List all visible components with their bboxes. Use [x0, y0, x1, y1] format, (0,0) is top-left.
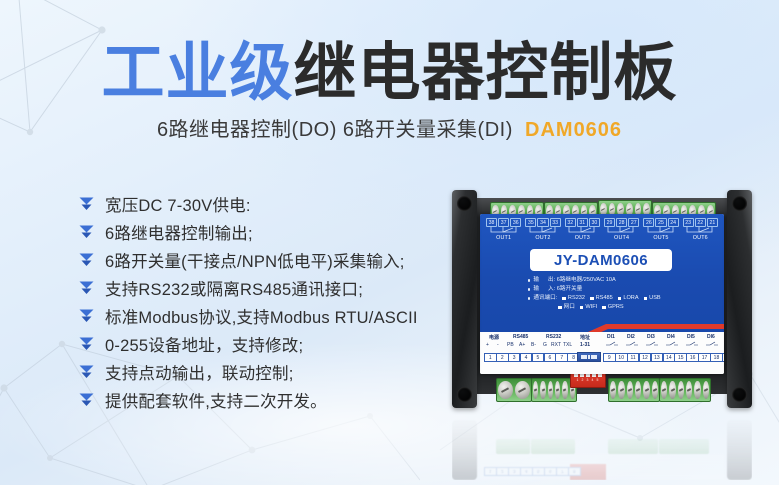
dip-switch-digits: 1 2 3 4 5 — [573, 378, 603, 382]
relay-output-group: 26 25 24 OUT5 — [643, 218, 679, 244]
list-item-label: 支持点动输出，联动控制; — [105, 360, 293, 384]
relay-output-label: OUT4 — [603, 235, 639, 241]
relay-contact-symbol-icon — [525, 227, 561, 235]
di-label: DI1 — [607, 334, 615, 340]
terminal-number: 24 — [668, 218, 679, 227]
di-contact-symbols-icon — [604, 341, 722, 348]
subtitle-model-number: DAM0606 — [525, 119, 622, 141]
terminal-screw — [627, 381, 633, 399]
terminal-screw — [498, 381, 513, 399]
reflection-bracket-right — [727, 420, 752, 480]
port-option: RS232 — [568, 294, 585, 303]
power-pin-plus: + — [486, 342, 489, 348]
rs232-pin-rxt: RXT — [551, 342, 561, 348]
terminal-number: 29 — [604, 218, 615, 227]
terminal-block-bottom-1 — [496, 378, 532, 402]
relay-output-label: OUT6 — [682, 235, 718, 241]
mounting-bracket-right — [727, 190, 752, 408]
reflection-terminal-number: 2 — [496, 467, 509, 476]
reflection-terminal-number: 3 — [508, 467, 521, 476]
double-chevron-down-icon — [78, 279, 95, 297]
reflection-faceplate — [480, 454, 724, 480]
terminal-screw — [618, 381, 624, 399]
port-option: 网口 — [564, 303, 575, 312]
relay-contact-symbol-icon — [682, 227, 718, 235]
double-chevron-down-icon — [78, 223, 95, 241]
terminal-screw — [686, 381, 692, 399]
terminal-screw — [661, 381, 667, 399]
dip-pin — [588, 355, 591, 358]
terminal-number: 27 — [628, 218, 639, 227]
spec-input-key: 输 — [533, 285, 539, 294]
terminal-number-row: 23 22 21 — [682, 218, 718, 227]
power-pin-minus: - — [497, 342, 499, 348]
double-chevron-down-icon — [78, 335, 95, 353]
terminal-number: 28 — [616, 218, 627, 227]
power-label: 电源 — [489, 334, 499, 341]
terminal-number: 17 — [698, 353, 711, 362]
reflection-terminal — [496, 439, 530, 454]
terminal-number-row: 26 25 24 — [643, 218, 679, 227]
checkbox-icon — [602, 306, 606, 310]
terminal-screw — [669, 381, 675, 399]
list-item-label: 6路开关量(干接点/NPN低电平)采集输入; — [105, 248, 405, 272]
terminal-number: 33 — [550, 218, 561, 227]
checkbox-icon — [618, 297, 622, 301]
faceplate-white-panel: 电源 + - RS485 PB A+ B- RS232 G RXT TXL 地址… — [480, 332, 724, 374]
terminal-number: 37 — [498, 218, 509, 227]
dip-pin — [584, 355, 587, 358]
spec-output-value: 6路继电器/250VAC 10A — [557, 276, 616, 285]
spec-output-key: 输 — [533, 276, 539, 285]
terminal-number: 21 — [707, 218, 718, 227]
terminal-block-bottom-4 — [659, 378, 711, 402]
relay-output-group: 38 37 36 OUT1 — [486, 218, 522, 244]
reflection-terminal — [659, 439, 709, 454]
terminal-screw — [548, 381, 553, 399]
subtitle-description: 6路继电器控制(DO) 6路开关量采集(DI) — [157, 119, 513, 141]
terminal-number: 2 — [496, 353, 509, 362]
di-label: DI5 — [687, 334, 695, 340]
address-range: 1-31 — [580, 342, 590, 348]
device-spec-list: 输 出: 6路继电器/250VAC 10A 输 入: 6路开关量 — [528, 276, 724, 312]
terminal-number: 15 — [674, 353, 687, 362]
terminal-screw — [652, 381, 658, 399]
address-dip-block-icon — [577, 352, 601, 362]
list-item-label: 0-255设备地址，支持修改; — [105, 332, 303, 356]
address-label: 地址 — [580, 334, 590, 341]
bottom-terminal-legend: 电源 + - RS485 PB A+ B- RS232 G RXT TXL 地址… — [480, 332, 724, 374]
spec-input-key2: 入: — [548, 285, 555, 294]
terminal-number: 16 — [686, 353, 699, 362]
relay-contact-symbol-icon — [603, 227, 639, 235]
terminal-screw — [515, 381, 530, 399]
spec-output-key2: 出: — [548, 276, 555, 285]
list-item-label: 支持RS232或隔离RS485通讯接口; — [105, 276, 363, 300]
terminal-screw — [643, 381, 649, 399]
terminal-number: 34 — [537, 218, 548, 227]
terminal-screw — [533, 381, 538, 399]
terminal-screw — [635, 381, 641, 399]
port-option: WIFI — [585, 303, 597, 312]
checkbox-icon — [644, 297, 648, 301]
dip-pin — [591, 355, 594, 358]
rs485-pin-b: B- — [531, 342, 536, 348]
dip-pin — [581, 355, 584, 358]
relay-output-label: OUT3 — [564, 235, 600, 241]
checkbox-icon — [562, 297, 566, 301]
terminal-number: 11 — [627, 353, 640, 362]
spec-ports-row2: 网口 WIFI GPRS — [528, 303, 724, 312]
di-label: DI6 — [707, 334, 715, 340]
terminal-number: 22 — [695, 218, 706, 227]
relay-output-group: 29 28 27 OUT4 — [603, 218, 639, 244]
relay-contact-symbol-icon — [486, 227, 522, 235]
terminal-number-row: 29 28 27 — [603, 218, 639, 227]
page-title-highlight: 工业级 — [102, 38, 294, 108]
terminal-number-row: 35 34 33 — [525, 218, 561, 227]
reflection-terminal — [531, 439, 575, 454]
page-title: 工业级继电器控制板 — [0, 42, 779, 105]
terminal-number: 3 — [508, 353, 521, 362]
terminal-number: 9 — [603, 353, 616, 362]
terminal-number: 13 — [651, 353, 664, 362]
port-option: RS485 — [596, 294, 613, 303]
terminal-number: 36 — [510, 218, 521, 227]
rs232-pin-g: G — [543, 342, 547, 348]
reflection-dip-switch — [570, 464, 606, 480]
rs485-pin-a: A+ — [519, 342, 525, 348]
spec-ports: 通讯端口: RS232 RS485 LORA USB — [528, 294, 724, 303]
model-badge: JY-DAM0606 — [530, 249, 672, 271]
terminal-screw — [610, 381, 616, 399]
reflection-terminal-numbers: 1 2 3 4 5 6 7 8 — [484, 467, 580, 476]
terminal-number: 38 — [486, 218, 497, 227]
reflection-terminal-number: 1 — [484, 467, 497, 476]
bullet-dot-icon — [528, 288, 530, 290]
double-chevron-down-icon — [78, 363, 95, 381]
page-subtitle: 6路继电器控制(DO) 6路开关量采集(DI) DAM0606 — [0, 120, 779, 140]
terminal-number-row: 32 31 30 — [564, 218, 600, 227]
spec-input-value: 6路开关量 — [557, 285, 583, 294]
relay-output-label: OUT1 — [486, 235, 522, 241]
terminal-number: 7 — [555, 353, 568, 362]
terminal-screw — [694, 381, 700, 399]
terminal-number: 1 — [484, 353, 497, 362]
port-option: USB — [649, 294, 661, 303]
product-reflection: 1 2 3 4 5 6 7 8 — [452, 408, 752, 480]
rs485-pin-pb: PB — [507, 342, 514, 348]
relay-contact-symbol-icon — [643, 227, 679, 235]
terminal-number: 10 — [615, 353, 628, 362]
reflection-terminal-number: 4 — [520, 467, 533, 476]
relay-output-group: 23 22 21 OUT6 — [682, 218, 718, 244]
spec-ports-key: 通讯端口: — [533, 294, 557, 303]
terminal-number: 6 — [544, 353, 557, 362]
mounting-hole-icon — [457, 387, 472, 402]
list-item-label: 提供配套软件,支持二次开发。 — [105, 388, 327, 412]
di-label: DI3 — [647, 334, 655, 340]
checkbox-icon — [590, 297, 594, 301]
reflection-terminal-number: 7 — [556, 467, 569, 476]
product-image-dam0606: 1 2 3 4 5 38 37 36 OUT1 — [452, 190, 752, 408]
double-chevron-down-icon — [78, 251, 95, 269]
mounting-hole-icon — [732, 387, 747, 402]
rs485-label: RS485 — [513, 334, 528, 340]
double-chevron-down-icon — [78, 195, 95, 213]
spec-input: 输 入: 6路开关量 — [528, 285, 724, 294]
mounting-hole-icon — [457, 196, 472, 211]
dip-pin — [594, 355, 597, 358]
di-label: DI2 — [627, 334, 635, 340]
double-chevron-down-icon — [78, 391, 95, 409]
terminal-number: 18 — [710, 353, 723, 362]
terminal-number: 31 — [577, 218, 588, 227]
faceplate-blue-panel: 38 37 36 OUT1 35 34 33 — [480, 214, 724, 332]
checkbox-icon — [580, 306, 584, 310]
bullet-dot-icon — [528, 279, 530, 281]
device-faceplate: 38 37 36 OUT1 35 34 33 — [480, 214, 724, 374]
reflection-terminal-number: 8 — [568, 467, 581, 476]
relay-output-label: OUT5 — [643, 235, 679, 241]
terminal-number: 35 — [525, 218, 536, 227]
double-chevron-down-icon — [78, 307, 95, 325]
rs232-label: RS232 — [546, 334, 561, 340]
reflection-terminal-number: 6 — [544, 467, 557, 476]
relay-contact-symbol-icon — [564, 227, 600, 235]
checkbox-icon — [558, 306, 562, 310]
terminal-number: 12 — [639, 353, 652, 362]
terminal-number-row-right: 9 10 11 12 13 14 15 16 17 18 19 20 — [603, 353, 724, 362]
terminal-screw — [540, 381, 545, 399]
reflection-terminal-number: 5 — [532, 467, 545, 476]
terminal-screw — [562, 381, 567, 399]
terminal-number-row-left: 1 2 3 4 5 6 7 8 — [484, 353, 579, 362]
terminal-block-bottom-3 — [608, 378, 660, 402]
terminal-number: 30 — [589, 218, 600, 227]
terminal-number: 25 — [655, 218, 666, 227]
terminal-number: 4 — [520, 353, 533, 362]
terminal-screw — [678, 381, 684, 399]
terminal-number: 23 — [683, 218, 694, 227]
spec-output: 输 出: 6路继电器/250VAC 10A — [528, 276, 724, 285]
relay-output-label: OUT2 — [525, 235, 561, 241]
port-option: GPRS — [608, 303, 624, 312]
relay-output-group: 32 31 30 OUT3 — [564, 218, 600, 244]
reflection-bracket-left — [452, 420, 477, 480]
page-title-main: 继电器控制板 — [294, 38, 678, 108]
mounting-bracket-left — [452, 190, 477, 408]
list-item-label: 宽压DC 7-30V供电: — [105, 192, 251, 216]
terminal-number-row: 38 37 36 — [486, 218, 522, 227]
bullet-dot-icon — [528, 297, 530, 299]
relay-output-group: 35 34 33 OUT2 — [525, 218, 561, 244]
relay-output-diagram-row: 38 37 36 OUT1 35 34 33 — [484, 218, 720, 244]
product-banner: 工业级继电器控制板 6路继电器控制(DO) 6路开关量采集(DI) DAM060… — [0, 0, 779, 485]
rs232-pin-txl: TXL — [563, 342, 572, 348]
terminal-number: 5 — [532, 353, 545, 362]
port-option: LORA — [623, 294, 638, 303]
list-item-label: 6路继电器控制输出; — [105, 220, 253, 244]
mounting-hole-icon — [732, 196, 747, 211]
di-label: DI4 — [667, 334, 675, 340]
terminal-number: 32 — [565, 218, 576, 227]
reflection-terminal — [608, 439, 658, 454]
terminal-screw — [555, 381, 560, 399]
terminal-screw — [703, 381, 709, 399]
terminal-number: 26 — [643, 218, 654, 227]
list-item-label: 标准Modbus协议,支持Modbus RTU/ASCII — [105, 304, 418, 328]
model-badge-label: JY-DAM0606 — [554, 252, 648, 269]
terminal-number: 19 — [722, 353, 724, 362]
terminal-number: 14 — [663, 353, 676, 362]
